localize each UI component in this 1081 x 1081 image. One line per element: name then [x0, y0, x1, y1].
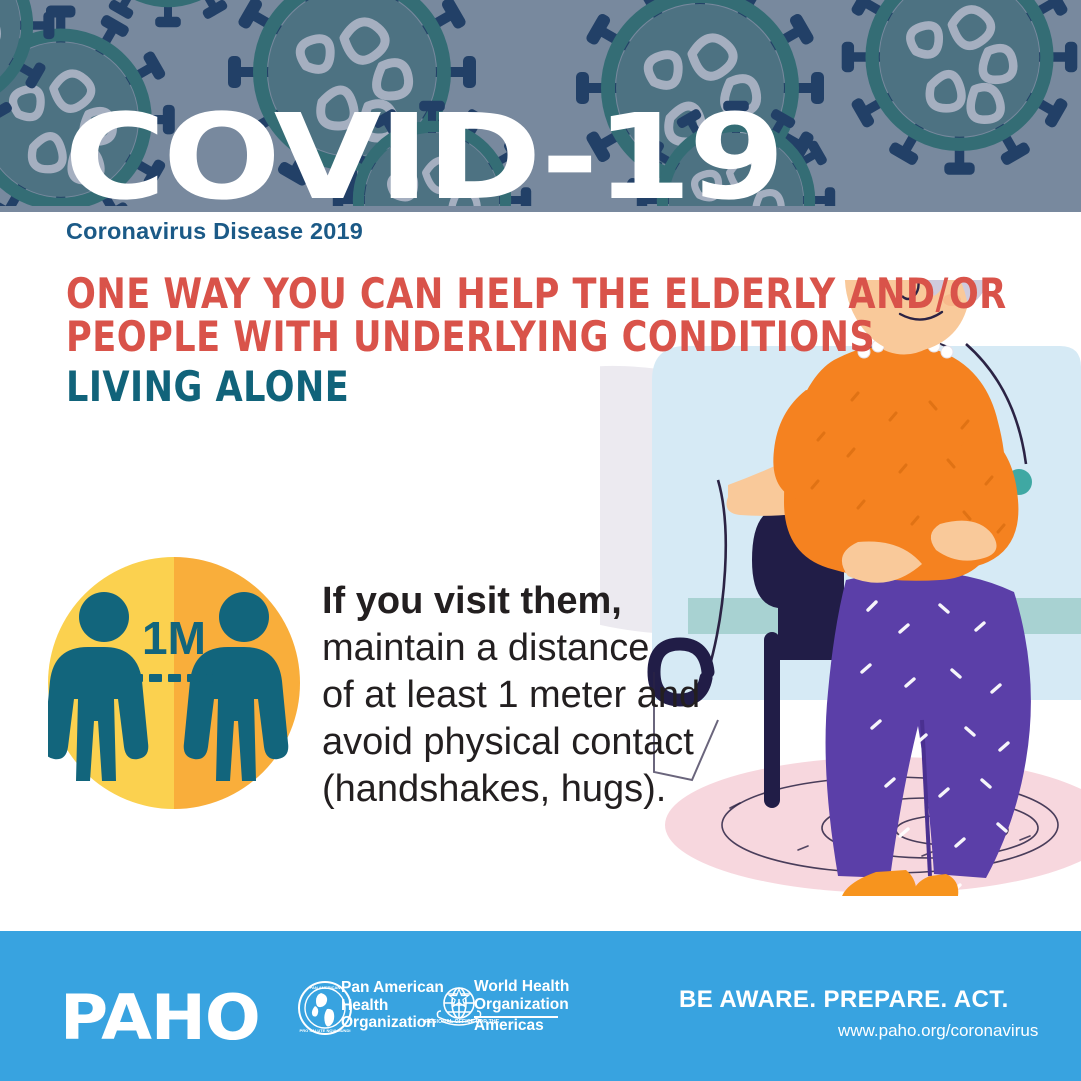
covid19-infographic-poster: COVID-19 Coronavirus Disease 2019 [0, 0, 1081, 1081]
who-line-1: World Health [474, 978, 569, 995]
pan-line-1: Pan American [341, 979, 444, 996]
page-title: COVID-19 [64, 98, 782, 212]
headline-line-1: ONE WAY YOU CAN HELP THE ELDERLY AND/OR [66, 272, 810, 315]
body-copy: If you visit them, maintain a distance o… [322, 578, 782, 814]
header-banner: COVID-19 [0, 0, 1081, 212]
who-label: World Health Organization [474, 978, 569, 1013]
body-line-4: (handshakes, hugs). [322, 766, 782, 813]
svg-text:PAN AMERICAN: PAN AMERICAN [310, 985, 341, 990]
distance-label: 1M [142, 612, 206, 664]
page-subtitle: Coronavirus Disease 2019 [66, 218, 363, 245]
website-url[interactable]: www.paho.org/coronavirus [838, 1021, 1038, 1041]
body-line-2: of at least 1 meter and [322, 672, 782, 719]
headline-block: ONE WAY YOU CAN HELP THE ELDERLY AND/OR … [66, 272, 866, 408]
pan-line-3: Organization [341, 1014, 436, 1031]
who-line-2: Organization [474, 996, 569, 1013]
footer-bar: PAHO PAN AMERICAN PRO SALUTE NOVI MUNDI … [0, 931, 1081, 1081]
headline-line-2: PEOPLE WITH UNDERLYING CONDITIONS [66, 315, 810, 358]
body-line-1: maintain a distance [322, 625, 782, 672]
campaign-tagline: BE AWARE. PREPARE. ACT. [679, 986, 1009, 1014]
pan-line-2: Health [341, 997, 388, 1014]
body-bold-line: If you visit them, [322, 578, 782, 625]
paho-wordmark: PAHO [60, 981, 260, 1054]
body-line-3: avoid physical contact [322, 719, 782, 766]
headline-line-3: LIVING ALONE [66, 365, 810, 408]
who-americas-label: Americas [474, 1017, 544, 1035]
social-distance-icon: 1M [48, 557, 300, 809]
